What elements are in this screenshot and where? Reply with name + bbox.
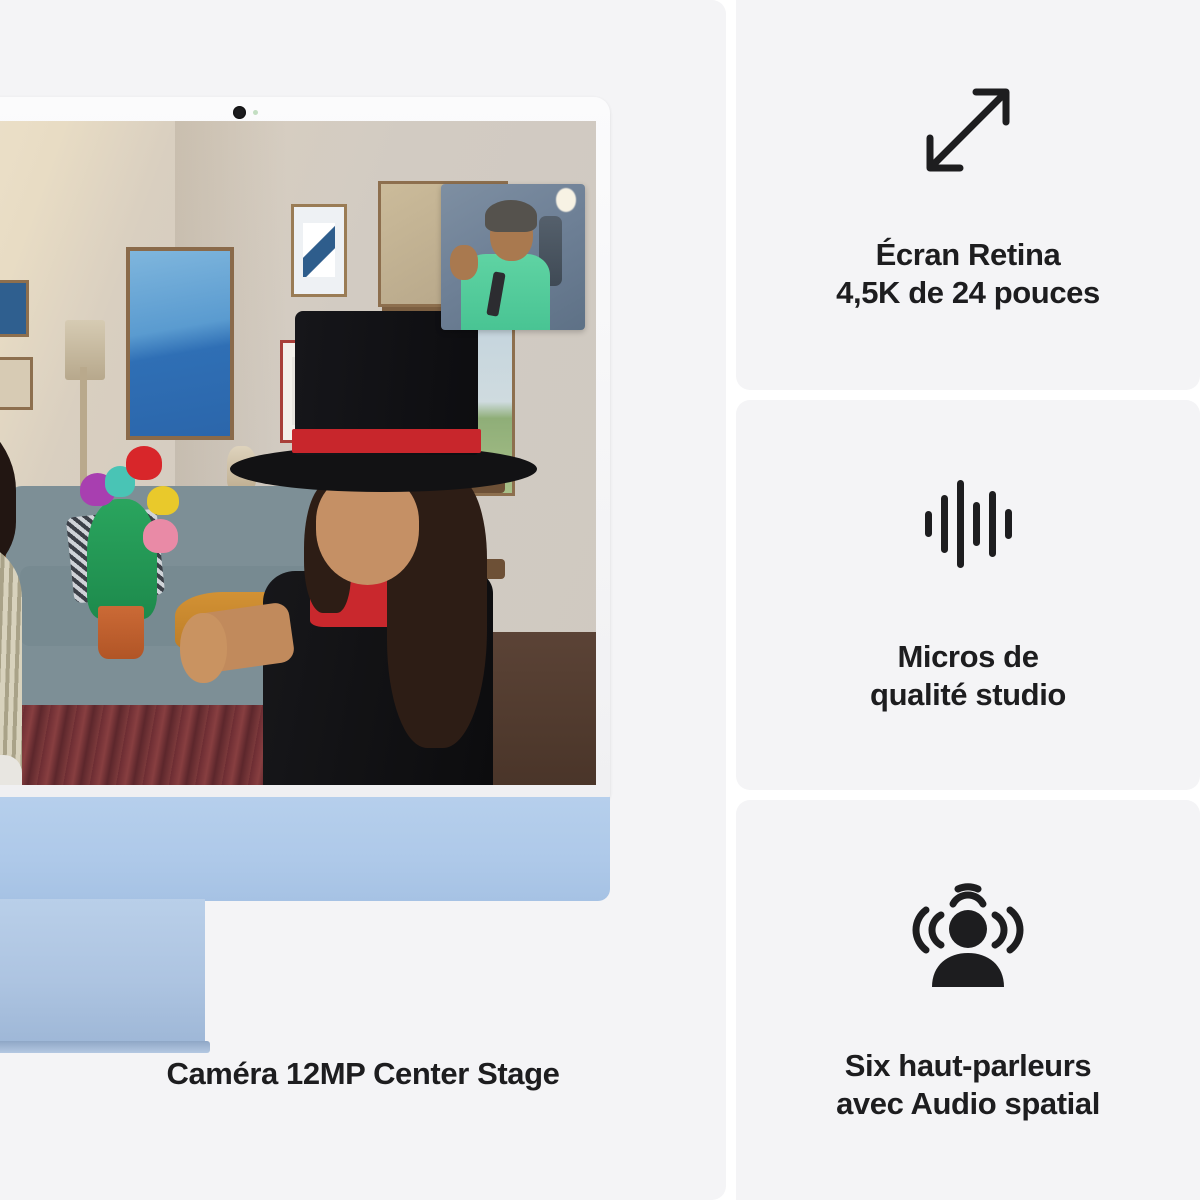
waveform-bar <box>1005 509 1012 539</box>
imac-device-illustration <box>0 97 610 957</box>
waveform-bar <box>957 480 964 568</box>
flower-red <box>126 446 163 479</box>
waveform-bar <box>973 502 980 546</box>
product-feature-grid: Caméra 12MP Center Stage Écran Retina 4,… <box>0 0 1200 1200</box>
pip-video-tile[interactable] <box>441 184 585 330</box>
waveform-bar <box>989 491 996 557</box>
flower-pink <box>143 519 178 552</box>
feature-card-spatial-audio[interactable]: Six haut-parleurs avec Audio spatial <box>736 800 1200 1200</box>
waveform-bar <box>925 511 932 537</box>
pip-light-source <box>556 188 576 211</box>
waveform-bar <box>941 495 948 553</box>
framed-picture-1 <box>0 280 29 336</box>
webcam-lens-icon <box>233 106 246 119</box>
framed-picture-3 <box>291 204 347 297</box>
imac-stand-foot <box>0 1041 210 1053</box>
camera-feature-panel: Caméra 12MP Center Stage <box>0 0 726 1200</box>
orange-flower-pot <box>98 606 144 659</box>
imac-stand-neck <box>0 899 205 1049</box>
pip-person-hair <box>485 200 537 232</box>
feature-card-retina-display[interactable]: Écran Retina 4,5K de 24 pouces <box>736 0 1200 390</box>
feature-card-label: Six haut-parleurs avec Audio spatial <box>836 1047 1100 1123</box>
framed-picture-2 <box>0 357 33 410</box>
imac-screen-content <box>0 121 596 785</box>
feature-card-label: Écran Retina 4,5K de 24 pouces <box>836 236 1100 312</box>
feature-card-label: Micros de qualité studio <box>870 638 1066 714</box>
blue-canvas-artwork <box>126 247 235 440</box>
flower-stems <box>87 499 157 619</box>
top-hat-red-band <box>292 429 481 452</box>
woman-striped-shirt <box>0 543 22 785</box>
imac-display-body <box>0 97 610 800</box>
camera-feature-caption: Caméra 12MP Center Stage <box>0 1055 726 1092</box>
imac-blue-chin <box>0 797 610 901</box>
feature-cards-column: Écran Retina 4,5K de 24 pouces Micros de… <box>736 0 1200 1200</box>
pip-person-hand <box>450 245 479 280</box>
feature-card-studio-mics[interactable]: Micros de qualité studio <box>736 400 1200 790</box>
waveform-bars <box>925 476 1012 572</box>
spatial-audio-person-icon <box>909 877 1027 991</box>
expand-diagonal-arrows-icon <box>916 78 1020 182</box>
flower-yellow <box>147 486 179 515</box>
audio-waveform-icon <box>925 476 1012 572</box>
webcam-assembly <box>215 104 275 120</box>
webcam-indicator-light-icon <box>253 110 258 115</box>
girl-hand <box>180 613 227 683</box>
girl-magician <box>245 320 540 785</box>
